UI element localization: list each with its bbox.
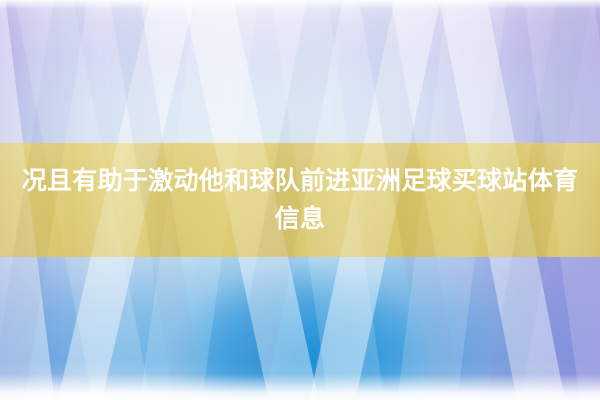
decorative-banner: 况且有助于激动他和球队前进亚洲足球买球站体育 信息 (0, 0, 600, 400)
top-white-fade (0, 0, 600, 9)
bottom-white-fade (0, 374, 600, 400)
headline-line-1: 况且有助于激动他和球队前进亚洲足球买球站体育 (22, 164, 579, 198)
headline-text-block: 况且有助于激动他和球队前进亚洲足球买球站体育 信息 (0, 143, 600, 257)
headline-line-2: 信息 (275, 202, 326, 236)
